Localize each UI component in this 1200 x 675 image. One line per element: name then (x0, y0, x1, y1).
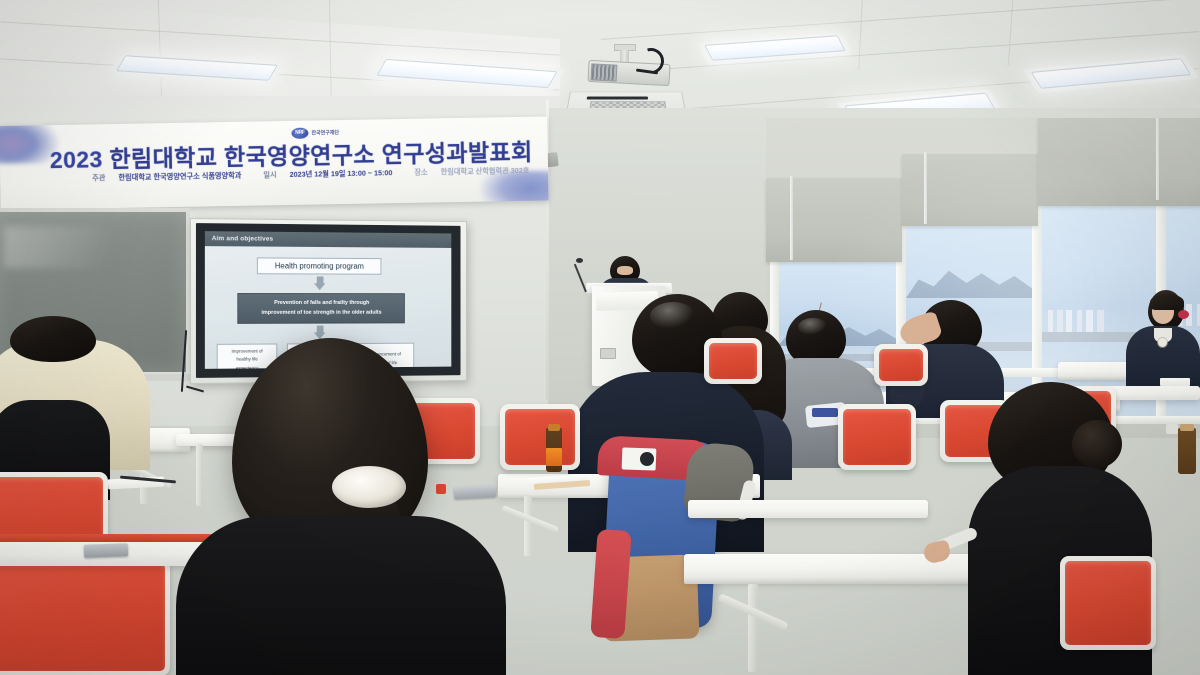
chair-back[interactable] (500, 404, 580, 470)
desk-item (1166, 424, 1178, 434)
ac-air-slot (587, 97, 648, 100)
slide-header-bar: Aim and objectives (205, 231, 451, 248)
attendee-left-head (10, 316, 96, 362)
attendee-hair-bun (1072, 420, 1122, 468)
hoodie-print-detail (812, 408, 838, 417)
desk-leg (524, 496, 532, 556)
banner-venue-label: 장소 (414, 168, 427, 177)
banner-host-value: 한림대학교 한국영양연구소 식품영양학과 (118, 171, 241, 182)
blind-rod-3[interactable] (1156, 118, 1159, 200)
backpack-logo (640, 452, 654, 466)
chair-pad (879, 349, 923, 381)
banner-title-year: 2023 (50, 146, 103, 173)
slide-header-text: Aim and objectives (212, 235, 273, 242)
mountain-view (906, 254, 1032, 298)
banner-host-label: 주관 (92, 173, 105, 182)
attendee-right-hairtie (1178, 310, 1189, 319)
desk-marker (436, 484, 446, 494)
hair-highlight (650, 302, 696, 330)
blind-rod-2[interactable] (924, 152, 927, 224)
slide-box-main-objective: Prevention of falls and frailty through … (237, 293, 405, 324)
slide-main-line2: improvement of toe strength in the older… (261, 310, 381, 317)
banner-venue-value: 한림대학교 산학협력관 302호 (441, 166, 530, 177)
chair-back[interactable] (874, 344, 928, 386)
chair-pad (505, 409, 575, 465)
foreground-attendee-torso (176, 516, 506, 675)
projector-vent (591, 63, 618, 81)
desk-front-right-rear (688, 500, 928, 518)
microphone-head (576, 258, 583, 263)
desk-leg (748, 584, 758, 672)
attendee-right-necklace (1158, 338, 1167, 347)
presenter-face (617, 266, 633, 275)
chair-back-front-right[interactable] (1060, 556, 1156, 650)
outcome-1-line1: Improvement of (231, 349, 262, 355)
shelf-support (196, 444, 203, 506)
smartphone-left[interactable] (84, 543, 128, 558)
outcome-1-line3: expectancy (236, 365, 259, 369)
slide-arrow-down-1 (314, 283, 325, 290)
drink-bottle-label (546, 448, 562, 466)
chair-pad (1065, 561, 1151, 645)
chair-back[interactable] (704, 338, 762, 384)
chair-pad (709, 343, 757, 379)
blind-rod-1[interactable] (790, 176, 793, 260)
slide-box-health-promoting-program: Health promoting program (257, 257, 382, 274)
chair-pad (843, 409, 911, 465)
roller-blind-3[interactable] (1038, 118, 1200, 206)
event-banner: NRF 한국연구재단 2023 한림대학교 한국영양연구소 연구성과발표회 주관… (0, 116, 549, 210)
banner-datetime-label: 일시 (263, 170, 276, 179)
water-bottle-cap (1180, 424, 1194, 431)
hair-highlight (798, 318, 828, 336)
foreground-attendee-scrunchie (332, 466, 406, 508)
paper-handout (1160, 378, 1190, 386)
roller-blind-1[interactable] (766, 178, 902, 262)
chair-back-left-2[interactable] (0, 558, 170, 675)
water-bottle (1178, 428, 1196, 474)
outcome-1-line2: healthy life (236, 357, 257, 363)
roller-blind-2[interactable] (902, 154, 1038, 226)
photo-scene: NRF 한국연구재단 2023 한림대학교 한국영양연구소 연구성과발표회 주관… (0, 0, 1200, 675)
slide-main-line1: Prevention of falls and frailty through (274, 300, 369, 307)
attendee-right-hair-top (1150, 294, 1184, 310)
banner-datetime-value: 2023년 12월 19일 13:00 ~ 15:00 (290, 168, 393, 179)
smartphone[interactable] (454, 485, 497, 499)
nrf-logo-text: 한국연구재단 (311, 129, 339, 136)
podium-control-panel (600, 348, 616, 359)
chair-pad (0, 563, 165, 671)
drink-bottle-cap (548, 424, 560, 431)
chair-back[interactable] (838, 404, 916, 470)
board-glare (4, 226, 154, 268)
